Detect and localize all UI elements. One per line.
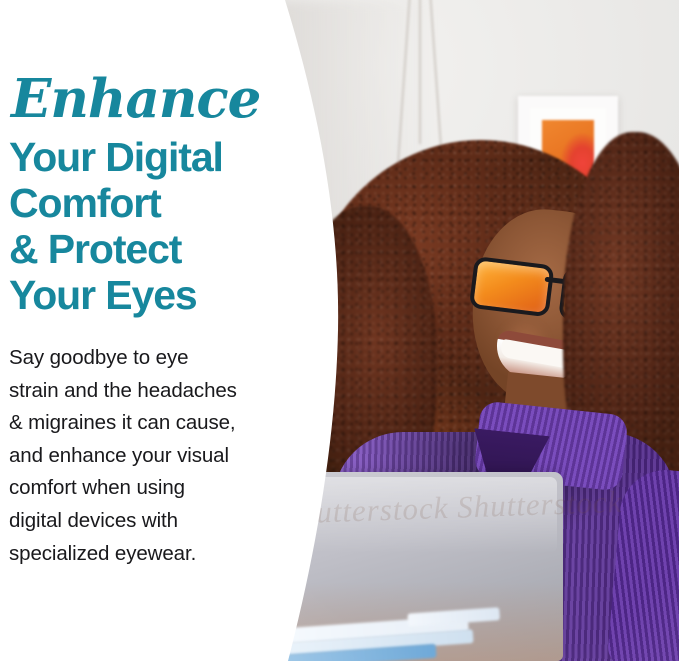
body-line: comfort when using bbox=[9, 472, 309, 505]
glasses-lens-left bbox=[469, 256, 555, 317]
plant-hanger-rope bbox=[397, 0, 411, 162]
body-line: specialized eyewear. bbox=[9, 538, 309, 571]
text-block: Enhance Your Digital Comfort & Protect Y… bbox=[9, 0, 309, 570]
body-line: and enhance your visual bbox=[9, 440, 309, 473]
body-line: digital devices with bbox=[9, 505, 309, 538]
headline-line-3: & Protect bbox=[9, 226, 309, 272]
headline-line-4: Your Eyes bbox=[9, 272, 309, 318]
plant-hanger-rope bbox=[429, 0, 442, 158]
body-line: strain and the headaches bbox=[9, 375, 309, 408]
headline-line-2: Comfort bbox=[9, 180, 309, 226]
headline-line-1: Your Digital bbox=[9, 134, 309, 180]
headline-script-word: Enhance bbox=[11, 70, 309, 128]
stock-watermark: Shutterstock Shutterstock bbox=[282, 463, 668, 656]
body-paragraph: Say goodbye to eye strain and the headac… bbox=[9, 342, 309, 570]
plant-hanger-rope bbox=[419, 0, 421, 144]
advertisement-banner: Shutterstock Shutterstock Enhance Your D… bbox=[0, 0, 679, 661]
body-line: Say goodbye to eye bbox=[9, 342, 309, 375]
body-line: & migraines it can cause, bbox=[9, 407, 309, 440]
